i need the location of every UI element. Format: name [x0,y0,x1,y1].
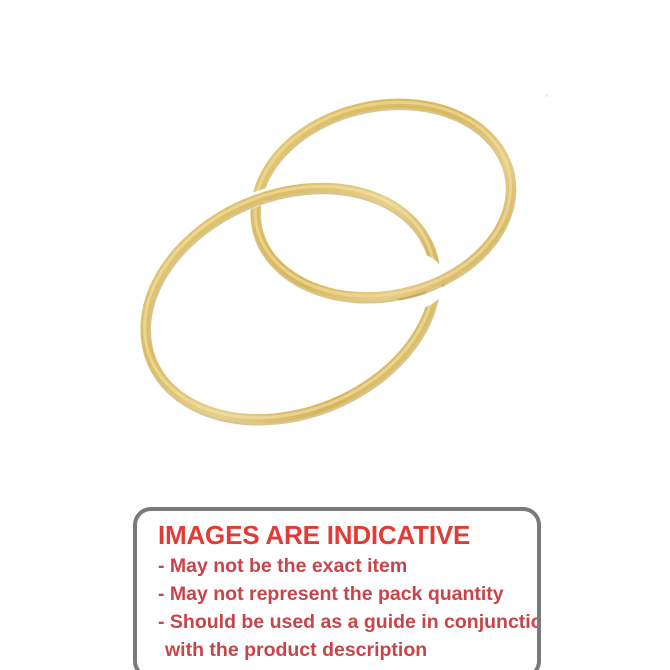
notice-line-1: - May not be the exact item [158,553,523,581]
notice-line-4: with the product description [165,637,523,665]
product-image-canvas: IMAGES ARE INDICATIVE - May not be the e… [0,0,670,670]
notice-heading: IMAGES ARE INDICATIVE [158,521,523,549]
notice-line-2: - May not represent the pack quantity [158,581,523,609]
images-are-indicative-notice: IMAGES ARE INDICATIVE - May not be the e… [133,507,541,670]
front-o-ring [110,145,471,462]
o-ring-pair-photo [0,0,670,480]
notice-line-3: - Should be used as a guide in conjuncti… [158,609,523,637]
background-speck [545,94,548,97]
